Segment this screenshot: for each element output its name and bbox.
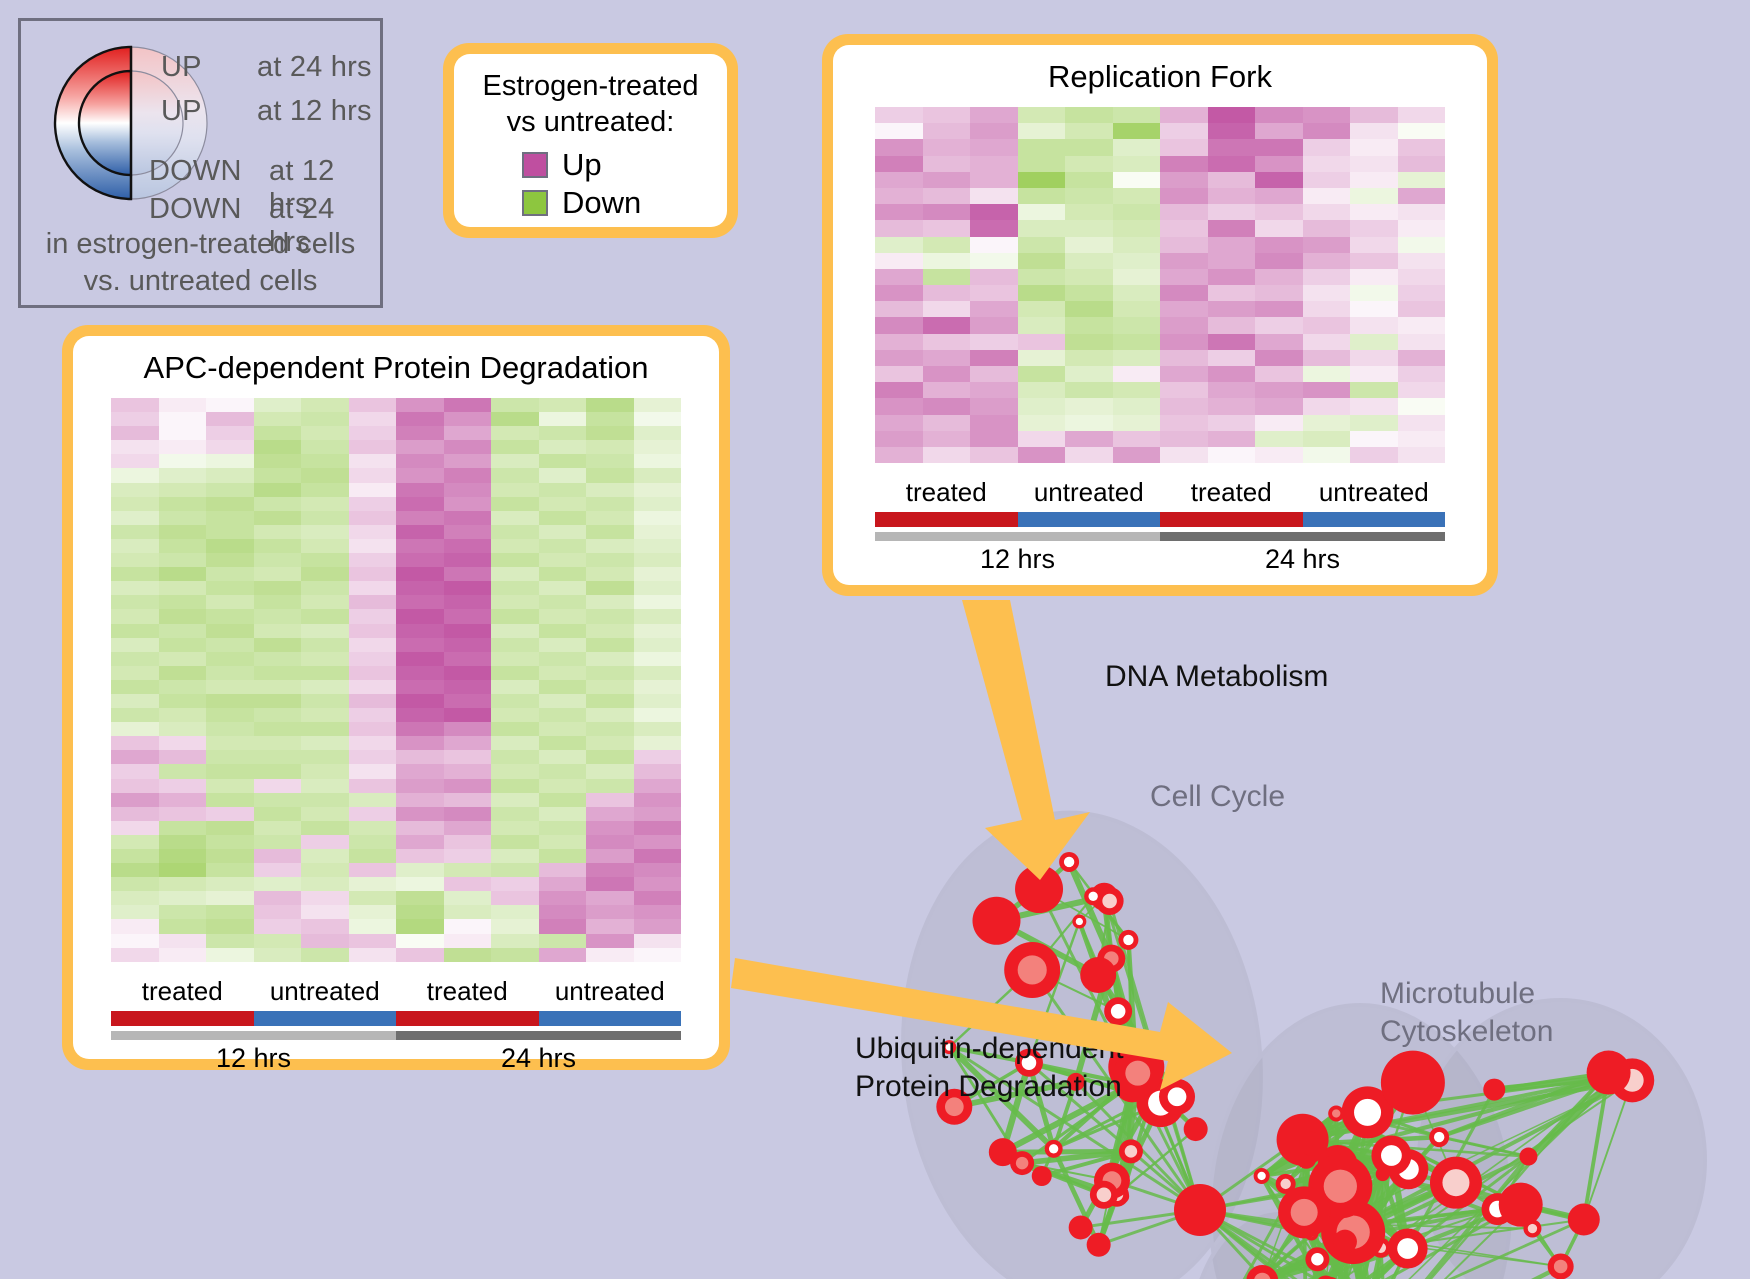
network-svg xyxy=(760,600,1750,1279)
network-node-core xyxy=(1381,1145,1402,1166)
network-node-core xyxy=(1434,1132,1444,1142)
apc-time-label-0: 12 hrs xyxy=(111,1043,396,1074)
scale-time-0: at 24 hrs xyxy=(257,51,372,84)
rf-treatment-bar xyxy=(875,512,1445,527)
apc-title: APC-dependent Protein Degradation xyxy=(73,336,719,386)
replication-fork-heatmap xyxy=(875,107,1445,463)
network-node-core xyxy=(1049,1144,1058,1153)
network-node-core xyxy=(1332,1109,1340,1117)
network-node-core xyxy=(1064,857,1074,867)
network-node-core xyxy=(1257,1172,1265,1180)
scale-dir-3: DOWN xyxy=(149,193,242,226)
network-node[interactable] xyxy=(1499,1183,1543,1227)
scale-dir-1: UP xyxy=(161,95,202,128)
rf-treat-seg-3 xyxy=(1303,512,1446,527)
rf-time-seg-1 xyxy=(1160,532,1445,541)
network-node[interactable] xyxy=(1568,1204,1600,1236)
network-node[interactable] xyxy=(1174,1184,1226,1236)
apc-time-seg-0 xyxy=(111,1031,396,1040)
network-node-core xyxy=(1016,1157,1028,1169)
scale-time-1: at 12 hrs xyxy=(257,95,372,128)
apc-sample-label-3: untreated xyxy=(539,976,682,1007)
cluster-label-microtubule-cytoskeleton: Microtubule Cytoskeleton xyxy=(1380,975,1553,1051)
figure-root: UP at 24 hrs UP at 12 hrs DOWN at 12 hrs… xyxy=(0,0,1750,1279)
network-node-core xyxy=(1102,894,1117,909)
apc-sample-labels: treated untreated treated untreated xyxy=(111,976,681,1007)
rf-sample-label-3: untreated xyxy=(1303,477,1446,508)
legend-label-up: Up xyxy=(562,147,602,183)
network-node[interactable] xyxy=(1483,1079,1505,1101)
legend-item-up: Up xyxy=(522,146,717,184)
rf-time-bar xyxy=(875,532,1445,541)
apc-treatment-bar xyxy=(111,1011,681,1026)
scale-caption-line2: vs. untreated cells xyxy=(21,263,380,300)
network-node[interactable] xyxy=(1184,1117,1208,1141)
apc-treat-seg-3 xyxy=(539,1011,682,1026)
network-node[interactable] xyxy=(1299,1132,1323,1156)
rf-sample-label-1: untreated xyxy=(1018,477,1161,508)
rf-sample-label-2: treated xyxy=(1160,477,1303,508)
color-scale-legend: UP at 24 hrs UP at 12 hrs DOWN at 12 hrs… xyxy=(18,18,383,308)
rf-sample-label-0: treated xyxy=(875,477,1018,508)
apc-treat-seg-2 xyxy=(396,1011,539,1026)
replication-fork-panel: Replication Fork treated untreated treat… xyxy=(822,34,1498,596)
scale-dir-2: DOWN xyxy=(149,155,242,188)
legend-title-line1: Estrogen-treated xyxy=(464,68,717,104)
replication-fork-title: Replication Fork xyxy=(833,45,1487,95)
network-node-core xyxy=(1311,1253,1323,1265)
network-node-core xyxy=(1123,935,1133,945)
network-node[interactable] xyxy=(972,897,1020,945)
network-node-core xyxy=(1354,1099,1381,1126)
up-swatch-icon xyxy=(522,152,548,178)
apc-sample-label-1: untreated xyxy=(254,976,397,1007)
apc-time-label-1: 24 hrs xyxy=(396,1043,681,1074)
network-node-core xyxy=(1168,1087,1187,1106)
apc-degradation-panel: APC-dependent Protein Degradation treate… xyxy=(62,325,730,1070)
network-node[interactable] xyxy=(1080,957,1116,993)
updown-legend-panel: Estrogen-treated vs untreated: Up Down xyxy=(443,43,738,238)
apc-sample-label-0: treated xyxy=(111,976,254,1007)
network-node-core xyxy=(1528,1224,1537,1233)
network-node-core xyxy=(1280,1179,1290,1189)
rf-sample-labels: treated untreated treated untreated xyxy=(875,477,1445,508)
network-node-core xyxy=(1291,1199,1318,1226)
apc-heatmap xyxy=(111,398,681,962)
down-swatch-icon xyxy=(522,190,548,216)
network-node[interactable] xyxy=(1519,1148,1537,1166)
legend-item-down: Down xyxy=(522,184,717,222)
cluster-label-cell-cycle: Cell Cycle xyxy=(1150,778,1285,816)
rf-time-label-1: 24 hrs xyxy=(1160,544,1445,575)
legend-items: Up Down xyxy=(464,146,717,222)
network-node[interactable] xyxy=(1015,865,1063,913)
network-node-core xyxy=(1088,892,1097,901)
legend-label-down: Down xyxy=(562,185,641,221)
network-node-core xyxy=(1324,1170,1357,1203)
network-node[interactable] xyxy=(1069,1215,1093,1239)
apc-sample-label-2: treated xyxy=(396,976,539,1007)
network-node[interactable] xyxy=(1376,1167,1390,1181)
network-node[interactable] xyxy=(1087,1233,1111,1257)
network-node-core xyxy=(1554,1260,1568,1274)
apc-time-seg-1 xyxy=(396,1031,681,1040)
network-node-core xyxy=(1125,1061,1150,1086)
apc-sample-annotation: treated untreated treated untreated 12 h… xyxy=(111,976,681,1074)
rf-time-labels: 12 hrs 24 hrs xyxy=(875,544,1445,575)
apc-treat-seg-0 xyxy=(111,1011,254,1026)
scale-caption-line1: in estrogen-treated cells xyxy=(21,226,380,263)
network-node-core xyxy=(1097,1188,1112,1203)
network-node[interactable] xyxy=(1032,1166,1052,1186)
network-node[interactable] xyxy=(1587,1051,1631,1095)
network-node-core xyxy=(1076,918,1083,925)
apc-time-labels: 12 hrs 24 hrs xyxy=(111,1043,681,1074)
rf-time-seg-0 xyxy=(875,532,1160,541)
rf-treat-seg-0 xyxy=(875,512,1018,527)
rf-treat-seg-2 xyxy=(1160,512,1303,527)
scale-dir-0: UP xyxy=(161,51,202,84)
network-node-core xyxy=(1125,1145,1137,1157)
rf-time-label-0: 12 hrs xyxy=(875,544,1160,575)
network-node-core xyxy=(1111,1004,1126,1019)
network-node[interactable] xyxy=(1333,1230,1357,1254)
network-node-core xyxy=(1442,1169,1469,1196)
network-node-core xyxy=(1018,955,1047,984)
cluster-label-dna-metabolism: DNA Metabolism xyxy=(1105,658,1328,696)
network-node-core xyxy=(1397,1238,1418,1259)
cluster-label-ubiquitin-degradation: Ubiquitin-dependent Protein Degradation xyxy=(855,1030,1124,1106)
replication-fork-sample-annotation: treated untreated treated untreated 12 h… xyxy=(875,477,1445,575)
apc-treat-seg-1 xyxy=(254,1011,397,1026)
legend-title-line2: vs untreated: xyxy=(464,104,717,140)
scale-caption: in estrogen-treated cells vs. untreated … xyxy=(21,226,380,300)
rf-treat-seg-1 xyxy=(1018,512,1161,527)
pathway-network-graph: DNA Metabolism Cell Cycle Microtubule Cy… xyxy=(760,600,1750,1279)
apc-time-bar xyxy=(111,1031,681,1040)
network-node[interactable] xyxy=(1381,1051,1445,1115)
